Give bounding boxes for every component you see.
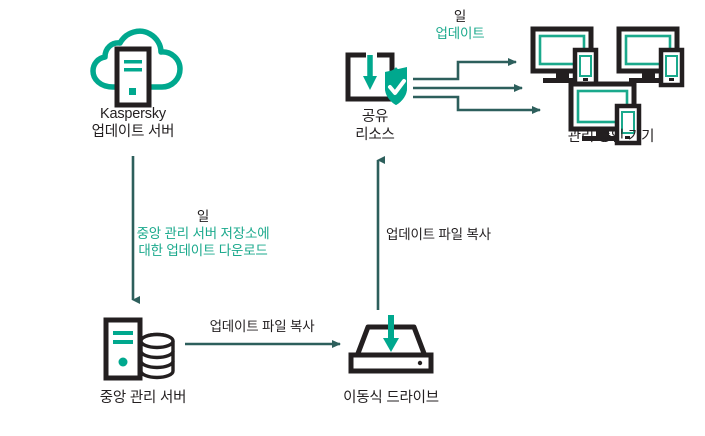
copy-to-shared-label: 업데이트 파일 복사 [386, 227, 491, 242]
node-label-removable-drive: 이동식 드라이브 [298, 389, 484, 407]
kaspersky-label-line2: 업데이트 서버 [92, 124, 175, 140]
device-icon-1 [533, 29, 596, 85]
edge-label-distribute-updates: 일 업데이트 [395, 8, 525, 42]
removable-drive-icon [351, 315, 431, 371]
shared-download-arrow-icon [363, 55, 377, 90]
administration-server-label: 중앙 관리 서버 [100, 390, 187, 406]
device-icon-2 [619, 29, 682, 85]
managed-devices-icon [533, 29, 682, 143]
download-schedule-label: 일 [197, 209, 209, 224]
distribute-action-label: 업데이트 [395, 25, 525, 42]
edge-label-download-updates: 일 중앙 관리 서버 저장소에 대한 업데이트 다운로드 [63, 208, 343, 259]
edge-label-copy-to-shared-resource: 업데이트 파일 복사 [386, 226, 556, 243]
diagram-canvas: Kaspersky 업데이트 서버 일 중앙 관리 서버 저장소에 대한 업데이… [0, 0, 705, 436]
node-label-administration-server: 중앙 관리 서버 [43, 389, 243, 407]
node-label-kaspersky-update-server: Kaspersky 업데이트 서버 [43, 105, 223, 141]
node-label-managed-devices: 관리 중인 기기 [518, 128, 704, 146]
managed-devices-label: 관리 중인 기기 [568, 129, 655, 145]
shared-resource-label-line2: 리소스 [355, 127, 394, 143]
distribute-schedule-label: 일 [454, 9, 466, 24]
shared-resource-label-line1: 공유 [362, 109, 388, 125]
node-label-shared-resource: 공유 리소스 [330, 108, 420, 144]
kaspersky-label-line1: Kaspersky [100, 106, 166, 122]
edge-label-copy-to-removable-drive: 업데이트 파일 복사 [180, 318, 344, 335]
edge-distribute-updates [413, 62, 540, 110]
download-action-line1: 중앙 관리 서버 저장소에 [63, 225, 343, 242]
copy-to-drive-label: 업데이트 파일 복사 [210, 319, 315, 334]
download-action-line2: 대한 업데이트 다운로드 [63, 242, 343, 259]
server-database-icon [106, 320, 173, 378]
cloud-server-icon [93, 31, 180, 105]
removable-drive-label: 이동식 드라이브 [343, 390, 439, 406]
shared-folder-shield-icon [348, 55, 407, 105]
